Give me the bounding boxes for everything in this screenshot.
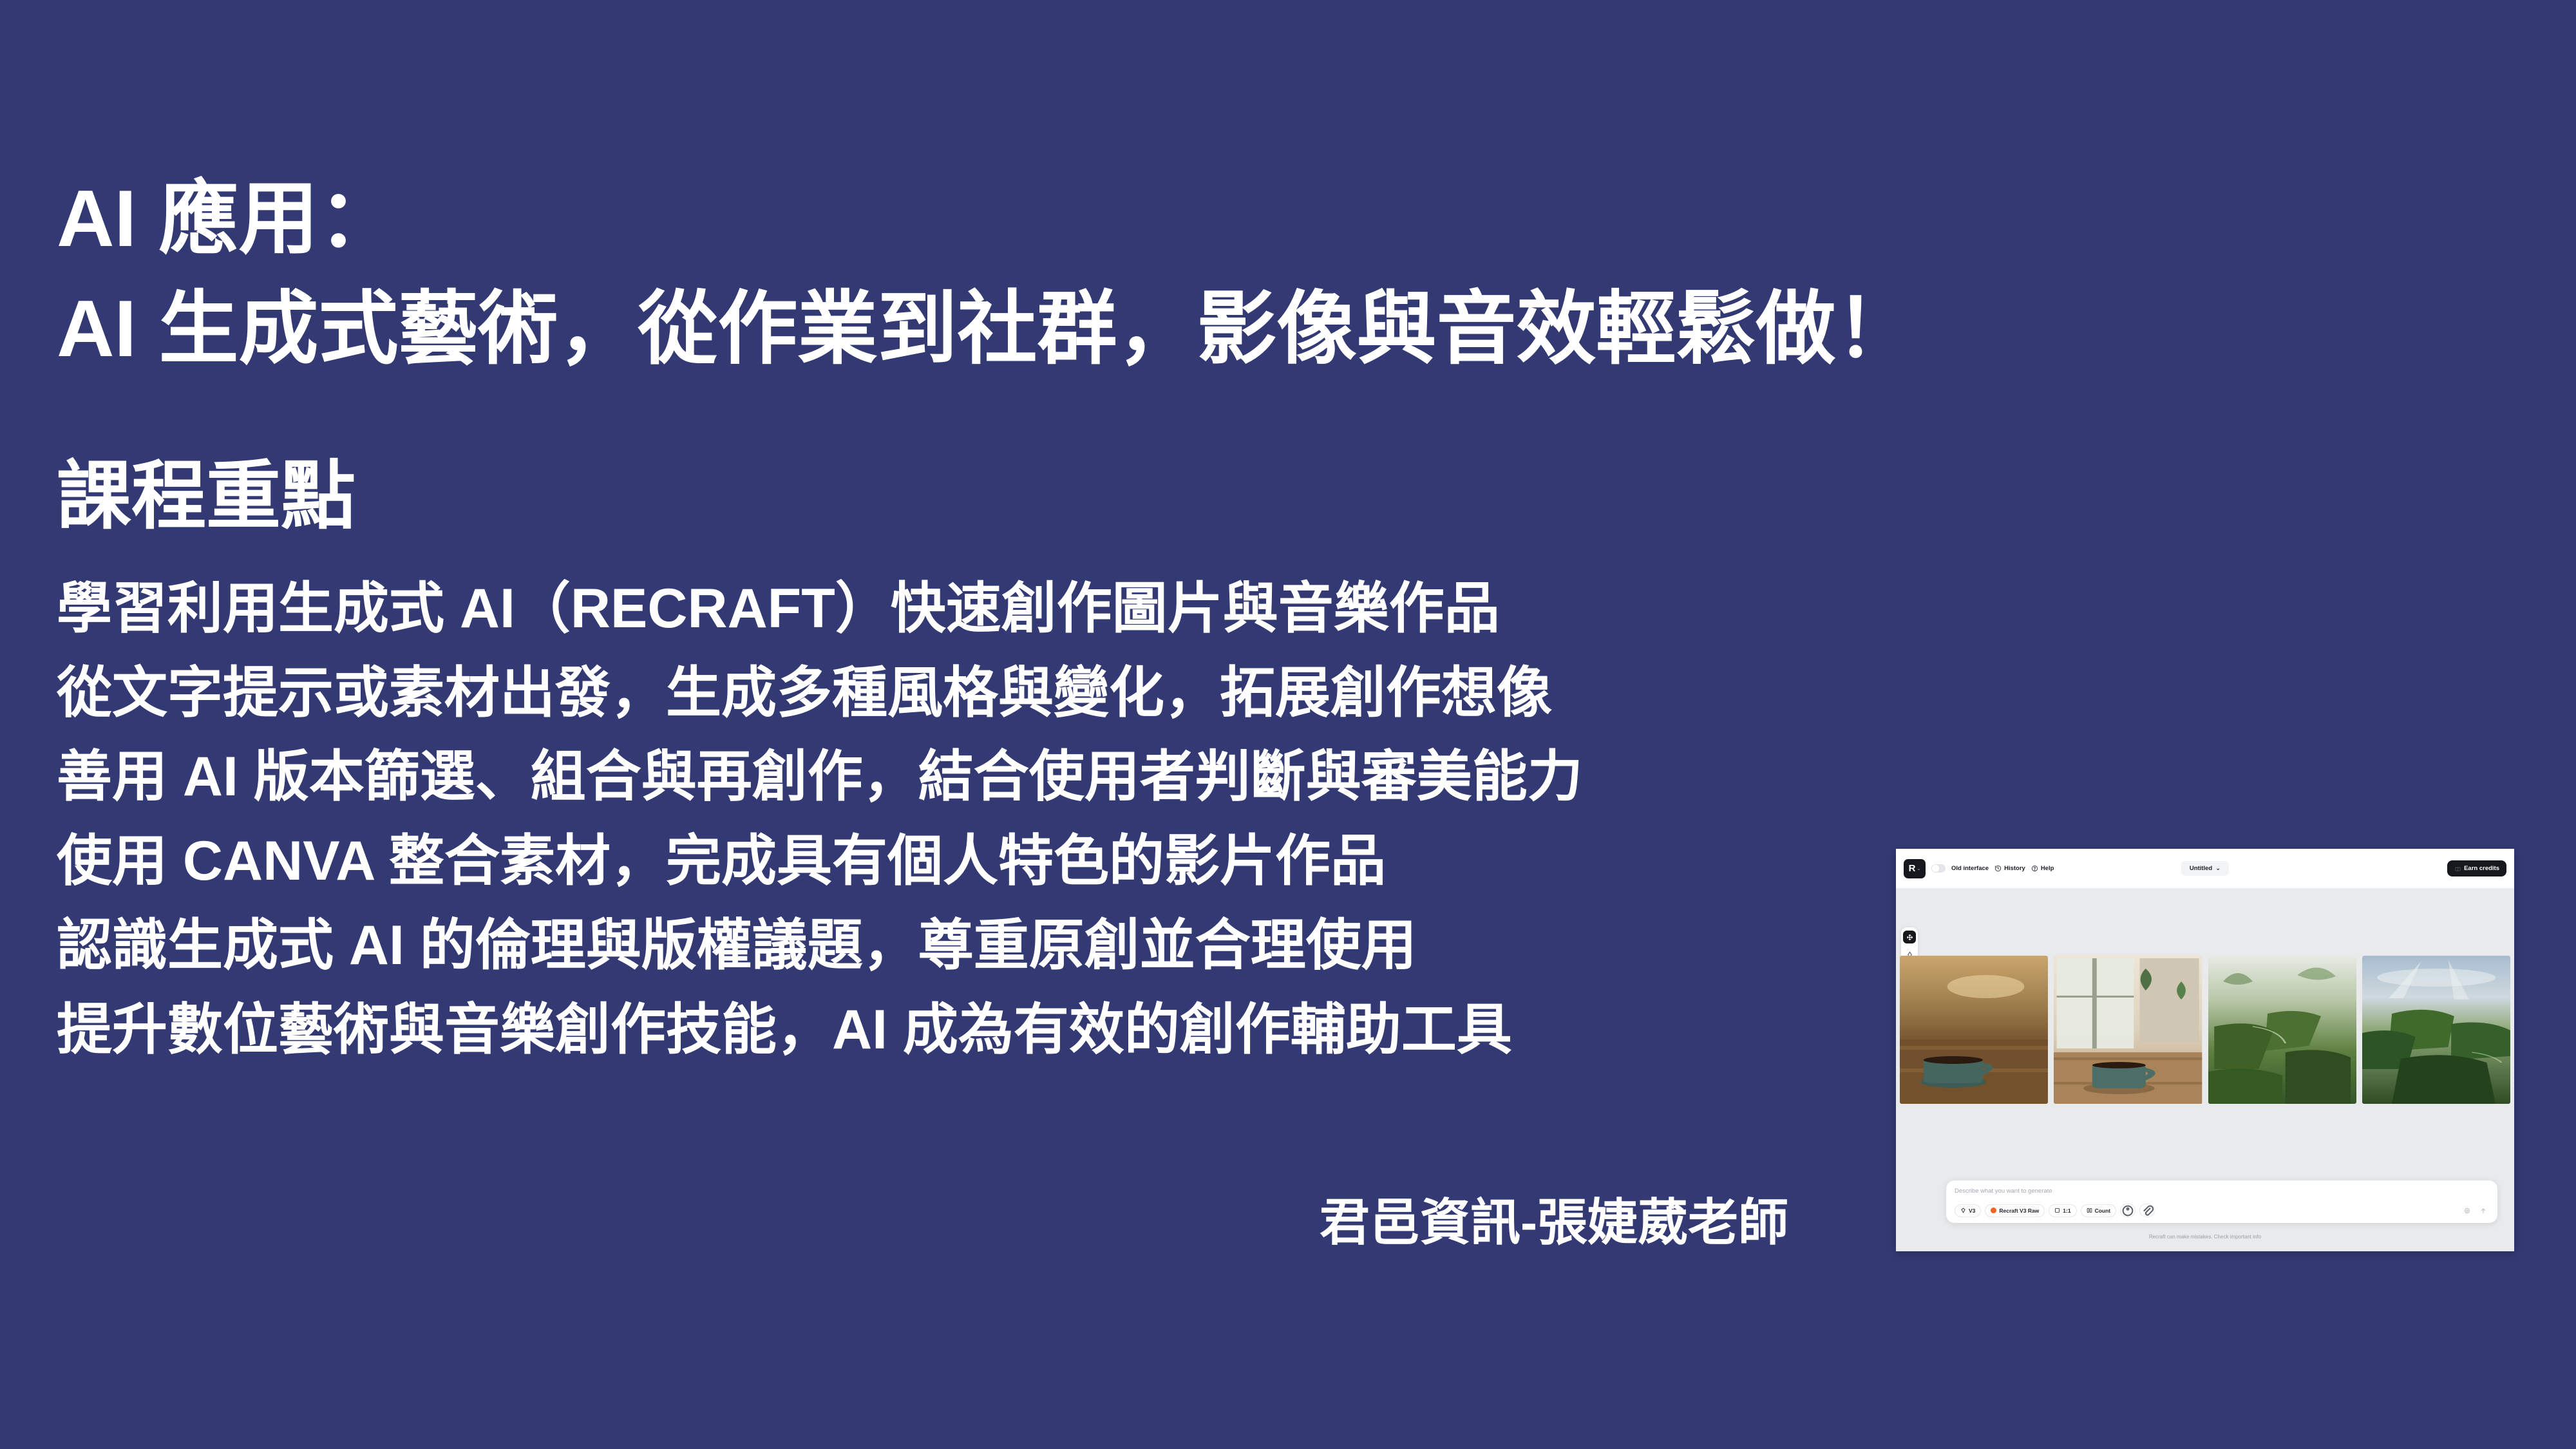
recraft-logo-icon: R <box>1909 864 1916 873</box>
generated-image-3[interactable] <box>2208 956 2356 1104</box>
chevron-down-icon: ⌄ <box>1917 866 1920 871</box>
prompt-box[interactable]: Describe what you want to generate V3 Re… <box>1946 1180 2497 1223</box>
prompt-controls: V3 Recraft V3 Raw 1:1 <box>1955 1204 2489 1217</box>
aspect-ratio-label: 1:1 <box>2063 1207 2070 1214</box>
instructor-signature: 君邑資訊-張婕葳老師 <box>1320 1182 1788 1255</box>
document-name-button[interactable]: Untitled ⌄ <box>2181 861 2229 876</box>
gift-icon <box>2454 865 2461 872</box>
model-icon <box>1960 1207 1966 1213</box>
course-highlights-list: 學習利用生成式 AI（RECRAFT）快速創作圖片與音樂作品 從文字提示或素材出… <box>57 567 1989 1072</box>
aspect-ratio-chip[interactable]: 1:1 <box>2049 1204 2076 1217</box>
old-interface-toggle[interactable] <box>1931 864 1946 873</box>
earn-credits-button[interactable]: Earn credits <box>2447 860 2506 876</box>
generated-image-1[interactable] <box>1900 956 2048 1104</box>
earn-credits-label: Earn credits <box>2464 865 2499 872</box>
old-interface-label: Old interface <box>1951 865 1989 872</box>
title-line-1: AI 應用： <box>57 164 2053 274</box>
old-interface-label-wrap[interactable]: Old interface <box>1951 865 1989 872</box>
document-name-label: Untitled <box>2190 865 2212 872</box>
title-line-2: AI 生成式藝術，從作業到社群，影像與音效輕鬆做！ <box>57 274 2053 384</box>
list-item: 善用 AI 版本篩選、組合與再創作，結合使用者判斷與審美能力 <box>57 735 1989 819</box>
list-item: 認識生成式 AI 的倫理與版權議題，尊重原創並合理使用 <box>57 904 1989 988</box>
recraft-logo-button[interactable]: R ⌄ <box>1904 859 1926 878</box>
generated-images-strip <box>1900 956 2510 1104</box>
count-label: Count <box>2095 1207 2111 1214</box>
count-chip[interactable]: Count <box>2081 1204 2117 1217</box>
prompt-input[interactable]: Describe what you want to generate <box>1955 1188 2489 1195</box>
history-button[interactable]: History <box>1994 865 2025 872</box>
count-icon <box>2087 1207 2092 1213</box>
model-version-chip[interactable]: V3 <box>1955 1204 1981 1217</box>
app-canvas: Describe what you want to generate V3 Re… <box>1896 889 2514 1251</box>
settings-icon[interactable] <box>2461 1204 2473 1217</box>
section-heading: 課程重點 <box>57 455 355 538</box>
generated-image-4[interactable] <box>2362 956 2510 1104</box>
move-icon[interactable] <box>1903 931 1916 943</box>
orange-dot-icon <box>1991 1207 1996 1213</box>
history-label: History <box>2004 865 2025 872</box>
slide-title: AI 應用： AI 生成式藝術，從作業到社群，影像與音效輕鬆做！ <box>57 164 2053 384</box>
model-disclaimer: Recraft can make mistakes. Check importa… <box>1896 1234 2514 1240</box>
list-item: 提升數位藝術與音樂創作技能，AI 成為有效的創作輔助工具 <box>57 988 1989 1072</box>
send-icon[interactable] <box>2477 1204 2489 1217</box>
attach-icon[interactable] <box>2139 1204 2155 1217</box>
help-label: Help <box>2041 865 2054 872</box>
list-item: 使用 CANVA 整合素材，完成具有個人特色的影片作品 <box>57 819 1989 904</box>
list-item: 學習利用生成式 AI（RECRAFT）快速創作圖片與音樂作品 <box>57 567 1989 651</box>
model-version-label: V3 <box>1969 1207 1975 1214</box>
slide-root: AI 應用： AI 生成式藝術，從作業到社群，影像與音效輕鬆做！ 課程重點 學習… <box>0 0 2576 1449</box>
model-style-chip[interactable]: Recraft V3 Raw <box>1985 1204 2045 1217</box>
help-icon <box>2031 865 2038 872</box>
history-icon <box>1994 865 2002 872</box>
list-item: 從文字提示或素材出發，生成多種風格與變化，拓展創作想像 <box>57 651 1989 735</box>
recraft-screenshot: R ⌄ Old interface History <box>1896 849 2514 1251</box>
app-topbar: R ⌄ Old interface History <box>1896 849 2514 889</box>
help-button[interactable]: Help <box>2031 865 2054 872</box>
aspect-ratio-icon <box>2054 1207 2060 1213</box>
generated-image-2[interactable] <box>2054 956 2202 1104</box>
style-icon[interactable] <box>2120 1204 2136 1217</box>
model-style-label: Recraft V3 Raw <box>1999 1207 2039 1214</box>
chevron-down-icon: ⌄ <box>2215 865 2221 872</box>
